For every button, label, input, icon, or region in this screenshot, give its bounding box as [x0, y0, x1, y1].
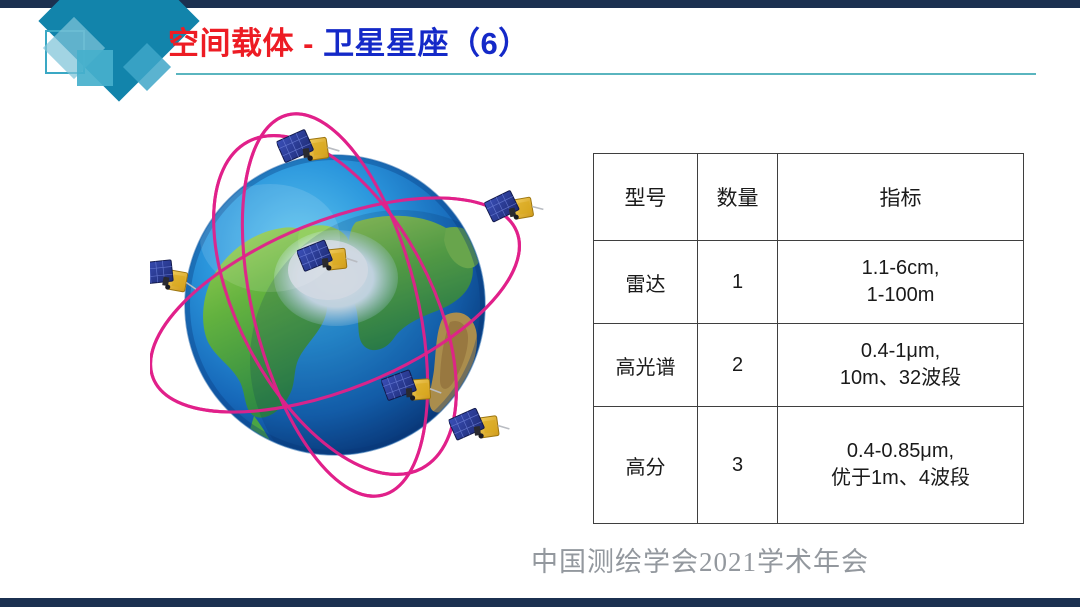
cell-quantity: 2	[698, 324, 778, 407]
column-header-model: 型号	[594, 154, 698, 241]
cell-spec-line1: 0.4-0.85μm,	[847, 440, 954, 462]
earth-satellite-constellation-illustration	[150, 110, 550, 510]
cell-spec-line2: 优于1m、4波段	[782, 465, 1019, 492]
slide-canvas: 空间载体 - 卫星星座（6）	[0, 0, 1080, 607]
page-title: 空间载体 - 卫星星座（6）	[168, 28, 530, 59]
satellite-icon	[483, 185, 545, 225]
cell-model: 雷达	[594, 241, 698, 324]
cell-spec: 0.4-1μm, 10m、32波段	[778, 324, 1024, 407]
footer-watermark-text: 中国测绘学会2021学术年会	[211, 540, 869, 579]
table-header-row: 型号 数量 指标	[594, 154, 1024, 241]
cell-quantity: 3	[698, 407, 778, 524]
cell-spec: 1.1-6cm, 1-100m	[778, 241, 1024, 324]
footer-watermark: 中国测绘学会2021学术年会	[0, 540, 1080, 579]
cell-spec-line2: 1-100m	[782, 282, 1019, 309]
cell-spec-line2: 10m、32波段	[782, 365, 1019, 392]
satellite-spec-table: 型号 数量 指标 雷达 1 1.1-6cm, 1-100m 高光谱 2 0.4-…	[593, 153, 1024, 524]
cell-spec-line1: 0.4-1μm,	[861, 340, 940, 362]
table-row: 高分 3 0.4-0.85μm, 优于1m、4波段	[594, 407, 1024, 524]
bottom-navy-bar	[0, 598, 1080, 607]
cell-model: 高分	[594, 407, 698, 524]
page-title-blue-part: 卫星星座（6）	[323, 26, 530, 61]
title-divider	[176, 73, 1036, 75]
column-header-spec: 指标	[778, 154, 1024, 241]
table-row: 高光谱 2 0.4-1μm, 10m、32波段	[594, 324, 1024, 407]
column-header-quantity: 数量	[698, 154, 778, 241]
square-filled-icon	[77, 50, 113, 86]
cell-model: 高光谱	[594, 324, 698, 407]
page-title-red-part: 空间载体 -	[168, 26, 323, 61]
cell-spec: 0.4-0.85μm, 优于1m、4波段	[778, 407, 1024, 524]
table-row: 雷达 1 1.1-6cm, 1-100m	[594, 241, 1024, 324]
cell-quantity: 1	[698, 241, 778, 324]
cell-spec-line1: 1.1-6cm,	[862, 257, 940, 279]
